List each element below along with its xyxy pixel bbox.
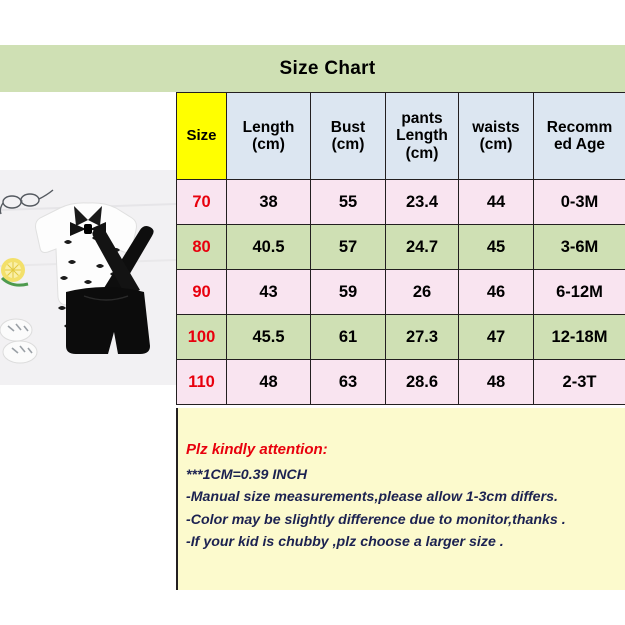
table-row: 90 43 59 26 46 6-12M: [177, 270, 625, 315]
table-header-row: Size Length (cm) Bust (cm) pants Length …: [177, 93, 625, 180]
table-row: 80 40.5 57 24.7 45 3-6M: [177, 225, 625, 270]
cell-pants-length: 28.6: [386, 360, 459, 405]
column-header-waists-line1: waists: [472, 119, 519, 136]
notice-title: Plz kindly attention:: [186, 441, 625, 458]
column-header-length: Length (cm): [227, 93, 311, 180]
cell-age: 2-3T: [534, 360, 625, 405]
cell-pants-length: 26: [386, 270, 459, 315]
cell-length: 43: [227, 270, 311, 315]
column-header-bust: Bust (cm): [311, 93, 386, 180]
product-photo-image: [0, 170, 176, 385]
cell-waists: 45: [459, 225, 534, 270]
cell-age: 3-6M: [534, 225, 625, 270]
column-header-size: Size: [177, 93, 227, 180]
column-header-pants-line2: Length: [396, 127, 448, 144]
column-header-length-line1: Length: [243, 119, 295, 136]
cell-waists: 47: [459, 315, 534, 360]
table-body: 70 38 55 23.4 44 0-3M 80 40.5 57 24.7 45…: [177, 180, 625, 405]
cell-size: 110: [177, 360, 227, 405]
cell-age: 6-12M: [534, 270, 625, 315]
notice-line-sizing: -If your kid is chubby ,plz choose a lar…: [186, 531, 625, 553]
cell-bust: 57: [311, 225, 386, 270]
table-row: 110 48 63 28.6 48 2-3T: [177, 360, 625, 405]
column-header-age-line2: ed Age: [554, 136, 605, 153]
cell-bust: 61: [311, 315, 386, 360]
cell-length: 45.5: [227, 315, 311, 360]
cell-size: 90: [177, 270, 227, 315]
cell-length: 38: [227, 180, 311, 225]
notice-panel: Plz kindly attention: ***1CM=0.39 INCH -…: [176, 408, 625, 590]
table-row: 100 45.5 61 27.3 47 12-18M: [177, 315, 625, 360]
cell-age: 12-18M: [534, 315, 625, 360]
column-header-waists-line2: (cm): [480, 136, 513, 153]
product-photo: [0, 170, 176, 385]
cell-waists: 46: [459, 270, 534, 315]
cell-bust: 63: [311, 360, 386, 405]
cell-pants-length: 24.7: [386, 225, 459, 270]
cell-length: 40.5: [227, 225, 311, 270]
title-bar: Size Chart: [0, 45, 625, 92]
column-header-waists: waists (cm): [459, 93, 534, 180]
column-header-pants-line1: pants: [401, 110, 442, 127]
cell-size: 70: [177, 180, 227, 225]
column-header-bust-line1: Bust: [331, 119, 365, 136]
table-header: Size Length (cm) Bust (cm) pants Length …: [177, 93, 625, 180]
cell-age: 0-3M: [534, 180, 625, 225]
size-table: Size Length (cm) Bust (cm) pants Length …: [176, 92, 625, 405]
column-header-bust-line2: (cm): [332, 136, 365, 153]
column-header-size-label: Size: [186, 127, 216, 144]
cell-length: 48: [227, 360, 311, 405]
cell-size: 100: [177, 315, 227, 360]
cell-waists: 44: [459, 180, 534, 225]
size-chart-page: Size Chart: [0, 0, 625, 625]
column-header-pants-length: pants Length (cm): [386, 93, 459, 180]
cell-bust: 55: [311, 180, 386, 225]
cell-size: 80: [177, 225, 227, 270]
column-header-length-line2: (cm): [252, 136, 285, 153]
notice-line-measurement: -Manual size measurements,please allow 1…: [186, 486, 625, 508]
column-header-pants-line3: (cm): [406, 145, 439, 162]
cell-pants-length: 27.3: [386, 315, 459, 360]
cell-pants-length: 23.4: [386, 180, 459, 225]
column-header-age: Recomm ed Age: [534, 93, 625, 180]
page-title: Size Chart: [250, 58, 376, 80]
size-table-container: Size Length (cm) Bust (cm) pants Length …: [176, 92, 625, 405]
notice-line-conversion: ***1CM=0.39 INCH: [186, 464, 625, 486]
column-header-age-line1: Recomm: [547, 119, 612, 136]
notice-line-color: -Color may be slightly difference due to…: [186, 509, 625, 531]
cell-bust: 59: [311, 270, 386, 315]
table-row: 70 38 55 23.4 44 0-3M: [177, 180, 625, 225]
cell-waists: 48: [459, 360, 534, 405]
